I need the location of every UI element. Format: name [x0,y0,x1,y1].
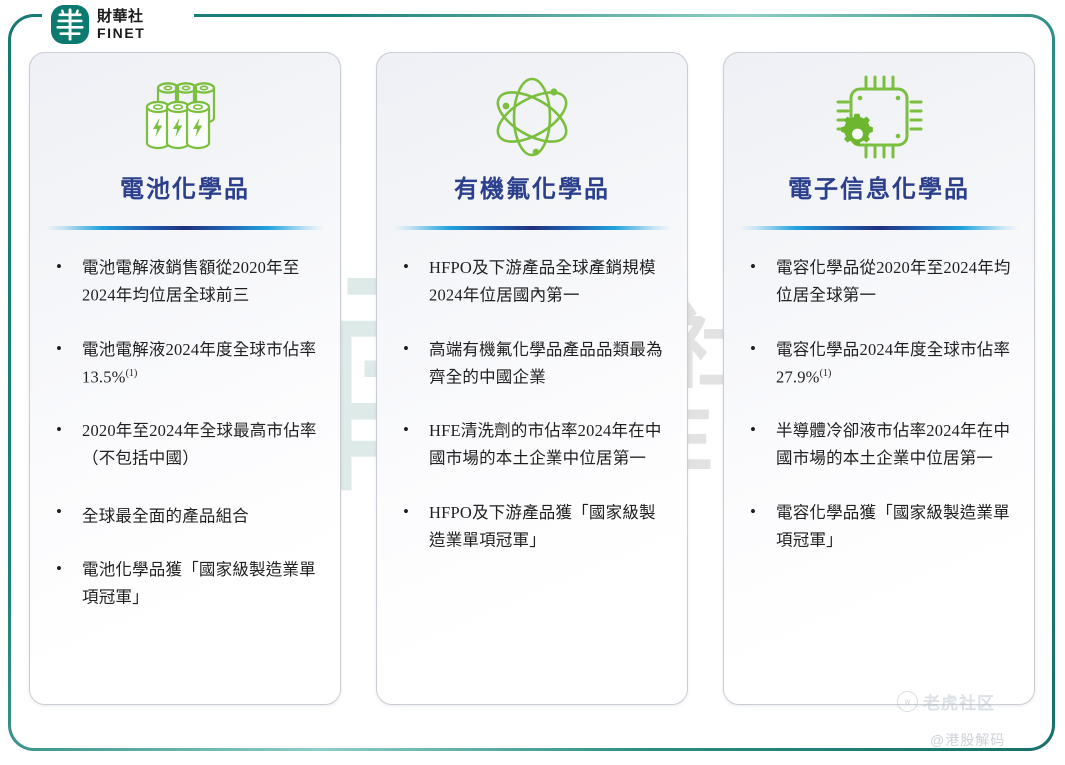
bullet-text: 全球最全面的產品組合 [82,506,249,525]
bullet-footnote: (1) [126,368,138,379]
list-item: 電池電解液2024年度全球市佔率13.5%(1) [52,338,322,390]
finet-hua-logo-icon [50,4,90,45]
list-item: 電池電解液銷售額從2020年至2024年均位居全球前三 [52,256,322,308]
tiger-community-watermark: ᴡ 老虎社区 [897,689,995,714]
card-title: 電子信息化學品 [724,169,1034,204]
brand-name-en: FINET [97,26,145,40]
list-item: HFPO及下游產品獲「國家級製造業單項冠軍」 [399,501,669,553]
bullet-text: 電池電解液銷售額從2020年至2024年均位居全球前三 [82,258,300,305]
bullet-text: HFE清洗劑的市佔率2024年在中國市場的本土企業中位居第一 [429,421,662,468]
list-item: 電池化學品獲「國家級製造業單項冠軍」 [52,558,322,610]
card-bullet-list: 電容化學品從2020年至2024年均位居全球第一 電容化學品2024年度全球市佔… [724,256,1034,552]
card-battery-chemicals: 電池化學品 電池電解液銷售額從2020年至2024年均位居全球前三 電池電解液2… [29,52,341,705]
gear-hub [852,129,863,140]
card-divider [46,226,324,230]
tiger-circle-icon: ᴡ [897,691,918,712]
card-icon-wrapper [724,69,1034,165]
card-divider [393,226,671,230]
bullet-text: 半導體冷卻液市佔率2024年在中國市場的本土企業中位居第一 [776,421,1010,468]
brand-wordmark: 財華社 FINET [97,9,145,40]
bullet-text: HFPO及下游產品全球產銷規模2024年位居國內第一 [429,258,656,305]
card-icon-wrapper [377,69,687,165]
battery-cells-icon [133,74,237,160]
card-title: 有機氟化學品 [377,169,687,204]
list-item: 高端有機氟化學品產品品類最為齊全的中國企業 [399,338,669,390]
list-item: HFE清洗劑的市佔率2024年在中國市場的本土企業中位居第一 [399,419,669,471]
list-item: 電容化學品2024年度全球市佔率27.9%(1) [746,338,1016,390]
list-item: HFPO及下游產品全球產銷規模2024年位居國內第一 [399,256,669,308]
bullet-text: 電池化學品獲「國家級製造業單項冠軍」 [82,560,316,607]
list-item: 2020年至2024年全球最高市佔率（不包括中國） [52,419,322,471]
bullet-text: 電容化學品2024年度全球市佔率27.9% [776,340,1010,387]
bullet-text: 高端有機氟化學品產品品類最為齊全的中國企業 [429,340,663,387]
chip-gear-icon [833,72,925,162]
bullet-text: 電容化學品從2020年至2024年均位居全球第一 [776,258,1011,305]
bullet-footnote: (1) [820,368,832,379]
card-icon-wrapper [30,69,340,165]
handle-watermark: @港股解码 [930,730,1005,750]
product-segments-row: 電池化學品 電池電解液銷售額從2020年至2024年均位居全球前三 電池電解液2… [0,0,1065,765]
card-divider [740,226,1018,230]
list-item: 電容化學品獲「國家級製造業單項冠軍」 [746,501,1016,553]
card-electronic-information-chemicals: 電子信息化學品 電容化學品從2020年至2024年均位居全球第一 電容化學品20… [723,52,1035,705]
list-item: 半導體冷卻液市佔率2024年在中國市場的本土企業中位居第一 [746,419,1016,471]
bullet-text: 2020年至2024年全球最高市佔率（不包括中國） [82,421,317,468]
list-item: 電容化學品從2020年至2024年均位居全球第一 [746,256,1016,308]
card-organic-fluorine-chemicals: 有機氟化學品 HFPO及下游產品全球產銷規模2024年位居國內第一 高端有機氟化… [376,52,688,705]
bullet-text: HFPO及下游產品獲「國家級製造業單項冠軍」 [429,503,656,550]
bullet-text: 電池電解液2024年度全球市佔率13.5% [82,340,316,387]
tiger-watermark-label: 老虎社区 [923,689,995,714]
brand-logo: 財華社 FINET [50,2,145,46]
list-item: 全球最全面的產品組合 [52,501,322,529]
card-bullet-list: 電池電解液銷售額從2020年至2024年均位居全球前三 電池電解液2024年度全… [30,256,340,610]
atom-icon [486,73,578,161]
bullet-text: 電容化學品獲「國家級製造業單項冠軍」 [776,503,1010,550]
brand-name-cn: 財華社 [97,9,145,24]
card-title: 電池化學品 [30,169,340,204]
card-bullet-list: HFPO及下游產品全球產銷規模2024年位居國內第一 高端有機氟化學品產品品類最… [377,256,687,552]
